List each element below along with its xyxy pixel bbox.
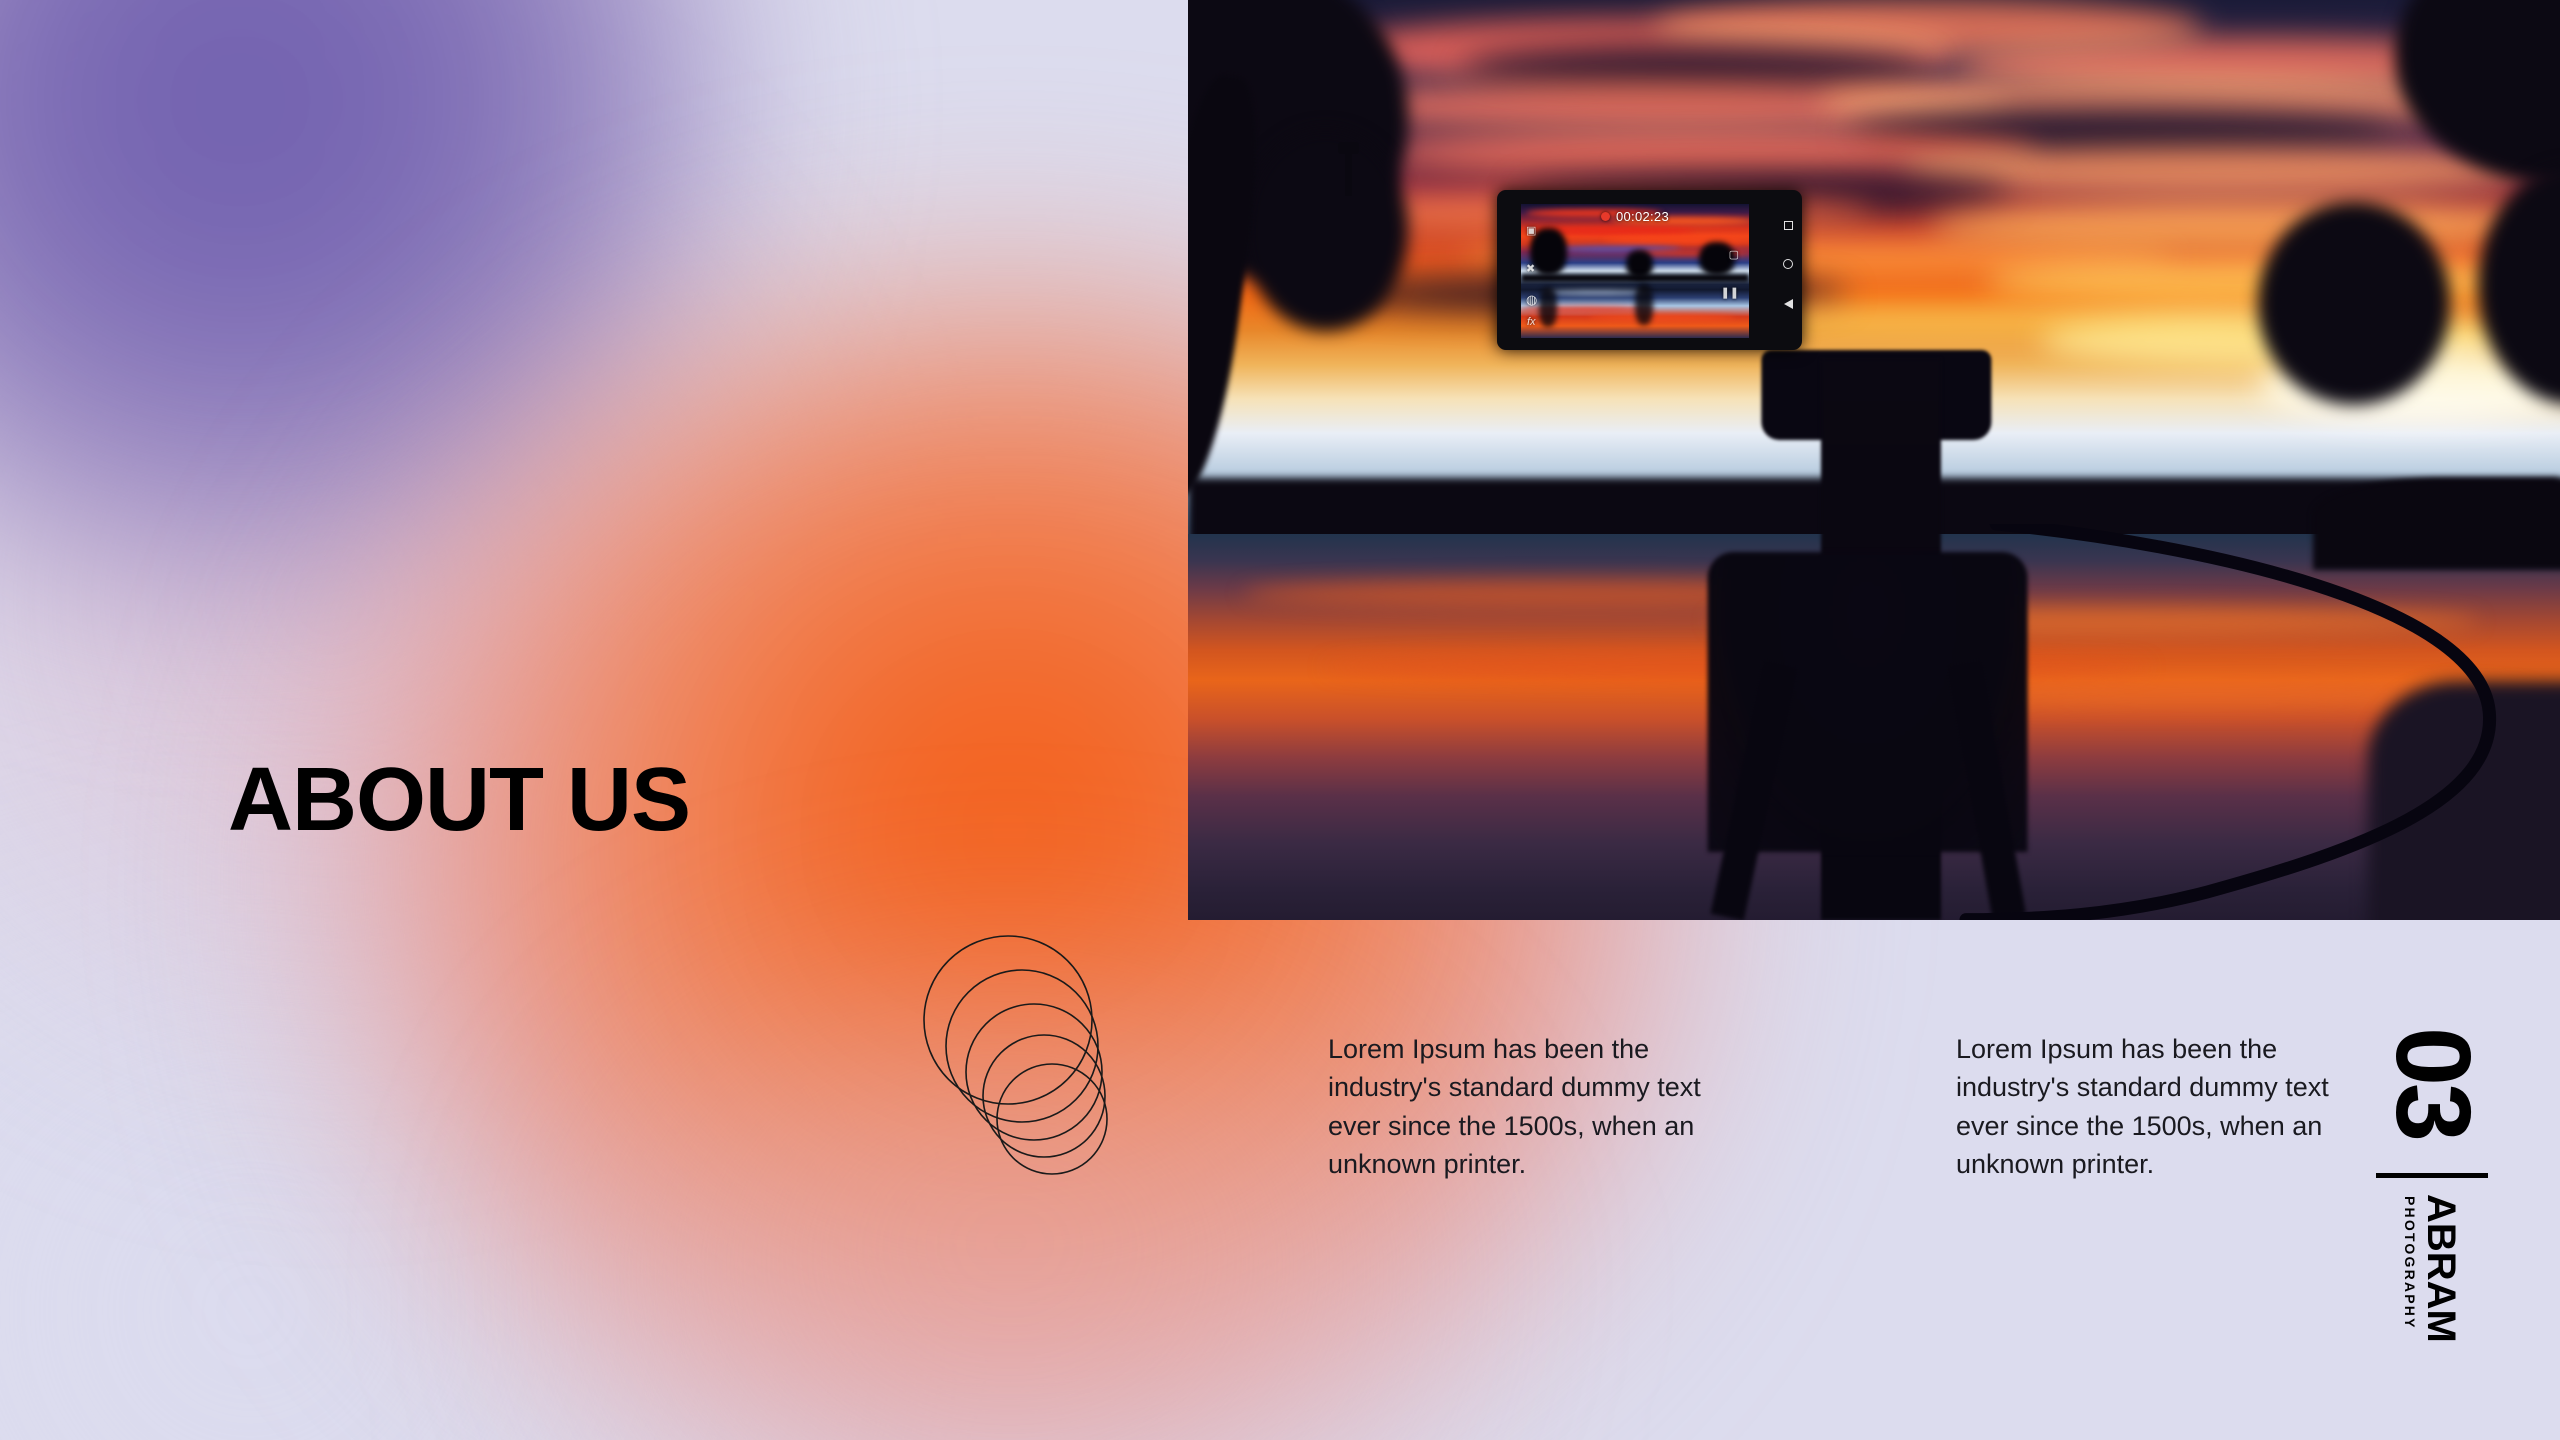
brand-corner: 03 ABRAM PHOTOGRAPHY: [2366, 1037, 2498, 1390]
smartphone: BlackBerry: [1497, 190, 1802, 350]
page-title: ABOUT US: [228, 755, 690, 845]
decor-circle-2: [946, 970, 1098, 1122]
body-columns: Lorem Ipsum has been the industry's stan…: [1328, 1030, 2388, 1183]
brand-lockup: ABRAM PHOTOGRAPHY: [2403, 1194, 2461, 1390]
body-paragraph-left: Lorem Ipsum has been the industry's stan…: [1328, 1030, 1760, 1183]
effects-icon: fx: [1527, 316, 1536, 328]
foreground-ground: [2368, 681, 2560, 920]
brand-subtitle: PHOTOGRAPHY: [2403, 1196, 2417, 1330]
decor-circle-1: [924, 936, 1092, 1104]
photo-canvas: BlackBerry: [1188, 0, 2560, 920]
hero-photo: BlackBerry: [1188, 0, 2560, 920]
recording-timecode: 00:02:23: [1616, 209, 1669, 224]
slide-root: BlackBerry: [0, 0, 2560, 1440]
body-paragraph-right: Lorem Ipsum has been the industry's stan…: [1956, 1030, 2388, 1183]
screen-water-streak: [1544, 290, 1649, 295]
decor-circle-5: [997, 1064, 1107, 1174]
circles-decoration: [910, 915, 1160, 1215]
home-circle-icon[interactable]: [1783, 259, 1793, 269]
brand-name: ABRAM: [2421, 1194, 2461, 1343]
android-nav-bar[interactable]: [1780, 206, 1796, 324]
screen-water-streak: [1589, 314, 1735, 321]
slide-number: 03: [2386, 1017, 2478, 1149]
phone-screen: 00:02:23 ▣ ✖ ◍ fx ▢ ❚❚: [1521, 204, 1749, 338]
shutter-icon: ◍: [1526, 292, 1537, 308]
flash-off-icon: ✖: [1526, 262, 1535, 275]
phone-mount-knob: [1338, 142, 1359, 154]
record-dot-icon: [1601, 212, 1610, 221]
screen-horizon: [1521, 274, 1749, 282]
phone-mount-stem: [1345, 148, 1352, 196]
screen-tree-reflection: [1635, 284, 1653, 324]
tree-silhouette: [2258, 202, 2450, 404]
back-triangle-icon[interactable]: [1784, 299, 1793, 309]
pause-icon: ❚❚: [1721, 286, 1739, 299]
screen-tree-reflection: [1539, 287, 1557, 327]
shore-silhouette: [2313, 478, 2560, 570]
camera-mode-icon: ▢: [1729, 248, 1739, 261]
record-status-bar: 00:02:23: [1521, 209, 1749, 224]
brand-divider: [2376, 1173, 2488, 1178]
tree-silhouette: [1243, 129, 1408, 331]
exposure-icon: ▣: [1526, 224, 1536, 237]
recents-square-icon[interactable]: [1784, 221, 1793, 230]
